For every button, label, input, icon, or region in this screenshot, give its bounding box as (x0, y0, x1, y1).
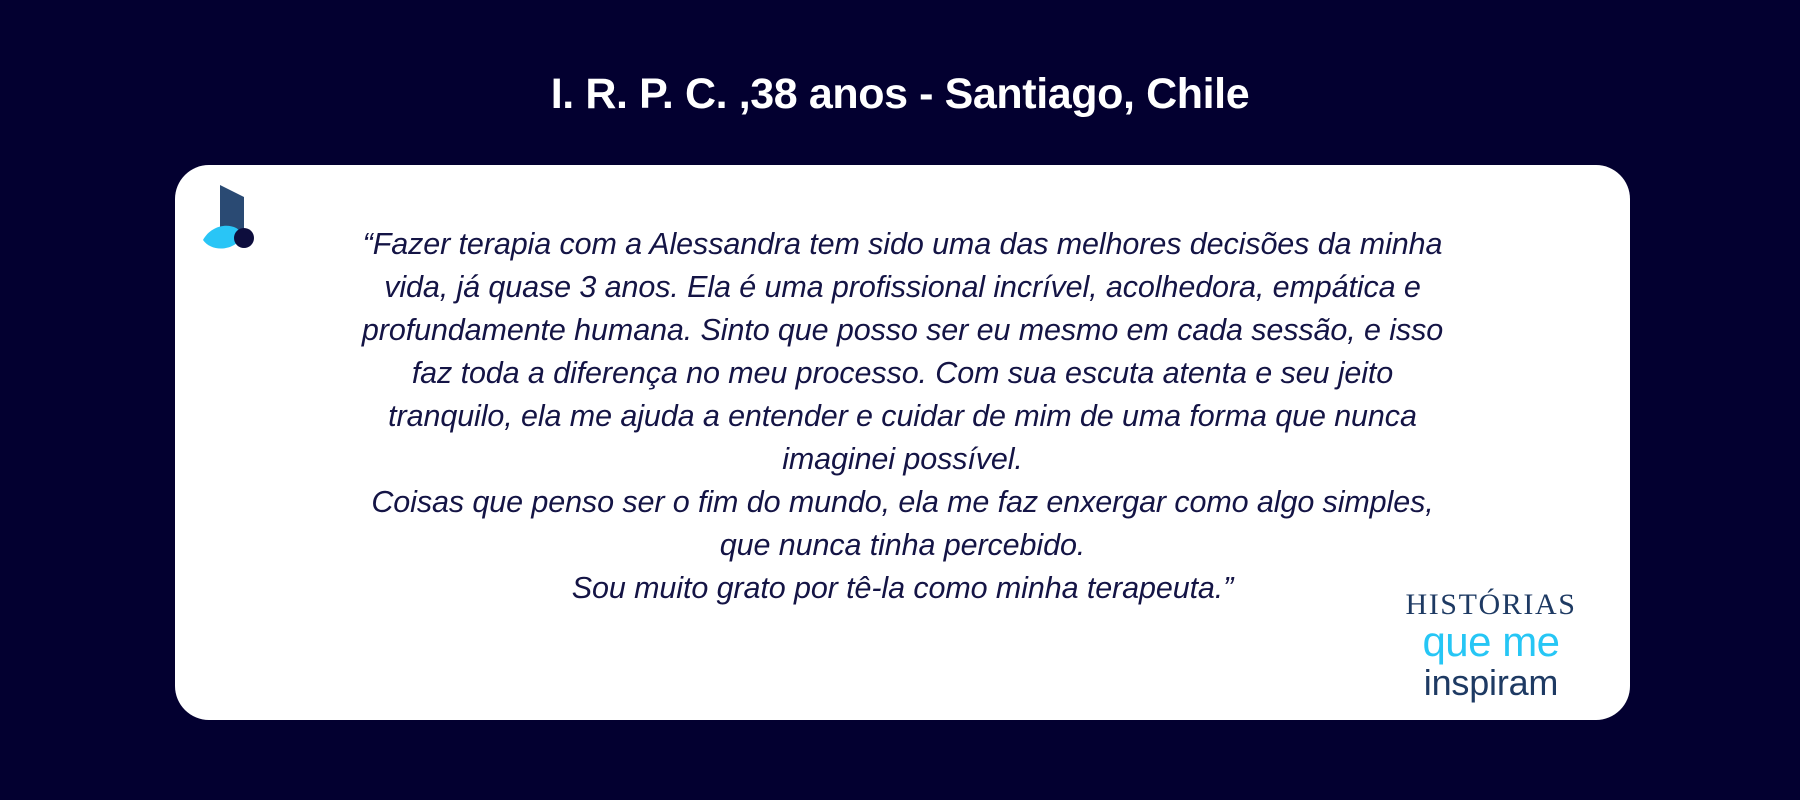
quote-line: tranquilo, ela me ajuda a entender e cui… (223, 395, 1582, 438)
testimonial-quote: “Fazer terapia com a Alessandra tem sido… (223, 223, 1582, 610)
quote-line: profundamente humana. Sinto que posso se… (223, 309, 1582, 352)
brand-lockup-line-historias: HISTÓRIAS (1386, 590, 1596, 621)
brand-lockup: HISTÓRIAS que me inspiram (1386, 590, 1596, 702)
testimonial-card: “Fazer terapia com a Alessandra tem sido… (175, 165, 1630, 720)
quote-line: que nunca tinha percebido. (223, 524, 1582, 567)
testimonial-slide: I. R. P. C. ,38 anos - Santiago, Chile “… (0, 0, 1800, 800)
page-title: I. R. P. C. ,38 anos - Santiago, Chile (0, 72, 1800, 117)
quote-line: imaginei possível. (223, 438, 1582, 481)
quote-line: vida, já quase 3 anos. Ela é uma profiss… (223, 266, 1582, 309)
quote-line: “Fazer terapia com a Alessandra tem sido… (223, 223, 1582, 266)
quote-line: Coisas que penso ser o fim do mundo, ela… (223, 481, 1582, 524)
quote-line: Sou muito grato por tê-la como minha ter… (223, 567, 1582, 610)
brand-lockup-line-inspiram: inspiram (1386, 665, 1596, 702)
brand-lockup-line-que-me: que me (1386, 621, 1596, 664)
quote-line: faz toda a diferença no meu processo. Co… (223, 352, 1582, 395)
